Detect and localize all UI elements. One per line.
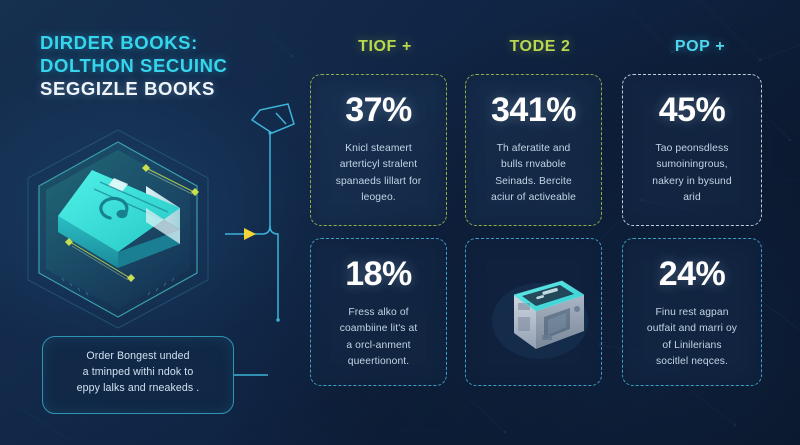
isometric-package-box-icon [484,273,596,365]
stat-desc-line: a orcl-anment [325,338,432,354]
column-header-1: TIOF + [310,38,460,56]
stat-card-bottom-1[interactable]: 18% Fress alko of coambiine lit's at a o… [310,238,447,386]
title-line-1: DIRDER BOOKS: [40,32,300,55]
stat-value: 45% [637,93,747,127]
column-header-3: POP + [620,38,780,56]
stat-desc-line: Seinads. Bercite [480,174,587,190]
stat-desc-line: arid [637,190,747,206]
callout-line-2: a tminped withi ndok to [56,364,220,380]
stat-desc-line: coambiine lit's at [325,321,432,337]
stat-desc-line: bulls rnvabole [480,157,587,173]
stat-desc-line: leogeo. [325,190,432,206]
stat-desc-line: aciur of activeable [480,190,587,206]
arrow-marker [244,228,256,240]
stat-desc-line: Th aferatite and [480,141,587,157]
stat-card-bottom-3[interactable]: 24% Finu rest agpan outfait and marri oy… [622,238,762,386]
stat-card-top-2[interactable]: 341% Th aferatite and bulls rnvabole Sei… [465,74,602,226]
stat-desc-line: Finu rest agpan [637,305,747,321]
page-title: DIRDER BOOKS: DOLTHON SECUINC SEGGIZLE B… [40,32,300,101]
stat-desc-line: Tao peonsdless [637,141,747,157]
stat-card-top-1[interactable]: 37% Knicl steamert arterticyl stralent s… [310,74,447,226]
callout-line-1: Order Bongest unded [56,348,220,364]
stat-desc-line: of Linilerians [637,338,747,354]
stat-desc-line: socitlel neqces. [637,354,747,370]
title-line-2: DOLTHON SECUINC [40,55,300,78]
isometric-book-badge-icon [18,126,218,332]
stat-desc-line: Fress alko of [325,305,432,321]
stat-desc-line: queertionont. [325,354,432,370]
callout-line-3: eppy lalks and rneakeds . [56,380,220,396]
stat-desc-line: outfait and marri oy [637,321,747,337]
stat-desc-line: arterticyl stralent [325,157,432,173]
package-icon-wrapper [465,238,615,400]
stat-value: 341% [480,93,587,127]
hero-book-badge [18,126,218,332]
column-header-2: TODE 2 [465,38,615,56]
stat-desc-line: Knicl steamert [325,141,432,157]
callout-note-box: Order Bongest unded a tminped withi ndok… [42,336,234,414]
stat-desc-line: spanaeds lillart for [325,174,432,190]
stat-value: 24% [637,257,747,291]
stat-desc-line: nakery in bysund [637,174,747,190]
stat-value: 37% [325,93,432,127]
stat-value: 18% [325,257,432,291]
infographic-canvas: DIRDER BOOKS: DOLTHON SECUINC SEGGIZLE B… [0,0,800,445]
stat-desc-line: sumoiningrous, [637,157,747,173]
title-line-3: SEGGIZLE BOOKS [40,78,300,101]
stat-card-top-3[interactable]: 45% Tao peonsdless sumoiningrous, nakery… [622,74,762,226]
